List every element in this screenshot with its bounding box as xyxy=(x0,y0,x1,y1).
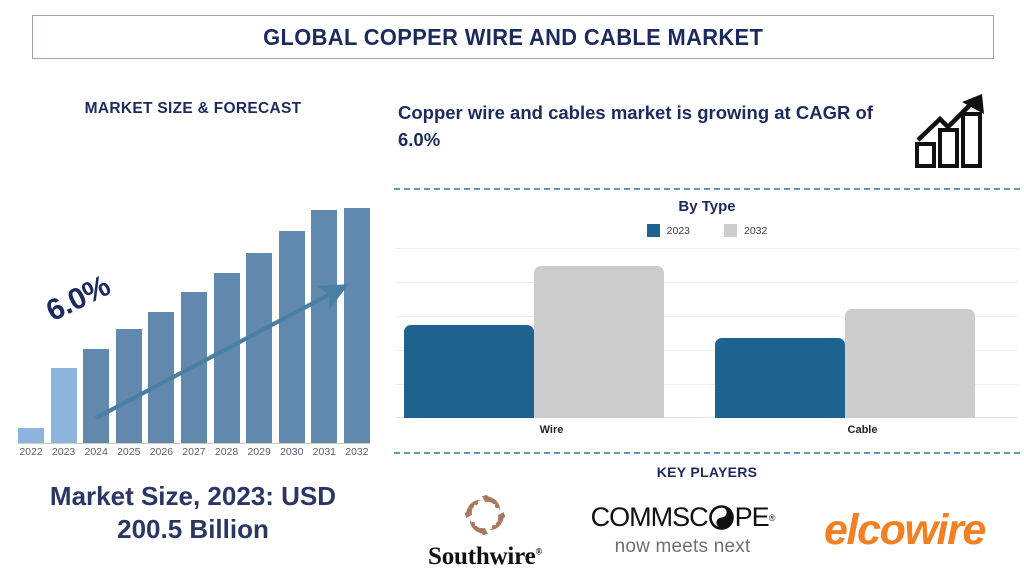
bar-column xyxy=(148,193,174,443)
bar-cable-2023 xyxy=(715,338,845,418)
page-title: GLOBAL COPPER WIRE AND CABLE MARKET xyxy=(263,24,763,51)
by-type-title: By Type xyxy=(390,198,1024,215)
page-title-box: GLOBAL COPPER WIRE AND CABLE MARKET xyxy=(32,15,994,59)
bar-2027 xyxy=(181,292,207,443)
logo-southwire: Southwire® xyxy=(390,490,580,571)
year-label-2030: 2030 xyxy=(279,446,305,458)
bar-column xyxy=(311,193,337,443)
by-type-chart xyxy=(396,248,1018,418)
commscope-text-2: PE xyxy=(735,502,769,533)
bar-column xyxy=(83,193,109,443)
bar-wire-2023 xyxy=(404,325,534,418)
year-label-2027: 2027 xyxy=(181,446,207,458)
bar-2026 xyxy=(148,312,174,443)
by-type-legend: 20232032 xyxy=(390,224,1024,237)
bar-2029 xyxy=(246,253,272,443)
legend-item-2023[interactable]: 2023 xyxy=(647,224,690,237)
southwire-wordmark: Southwire® xyxy=(428,543,542,571)
legend-swatch-icon xyxy=(724,224,737,237)
key-players-title: KEY PLAYERS xyxy=(390,464,1024,480)
by-type-bar-groups xyxy=(396,248,1018,418)
logo-commscope: COMMSC PE® now meets next xyxy=(580,502,785,558)
year-label-2023: 2023 xyxy=(51,446,77,458)
bar-column xyxy=(214,193,240,443)
bar-column xyxy=(344,193,370,443)
year-label-2029: 2029 xyxy=(246,446,272,458)
bar-2032 xyxy=(344,208,370,443)
bar-group-cable xyxy=(707,248,1018,418)
commscope-swirl-icon xyxy=(709,505,734,530)
market-size-chart: 6.0% xyxy=(18,175,370,465)
bar-2025 xyxy=(116,329,142,443)
bar-column xyxy=(181,193,207,443)
divider-bottom xyxy=(394,452,1020,454)
market-size-value: Market Size, 2023: USD 200.5 Billion xyxy=(8,480,378,545)
market-size-year-labels: 2022202320242025202620272028202920302031… xyxy=(18,446,370,458)
infographic-page: GLOBAL COPPER WIRE AND CABLE MARKET MARK… xyxy=(0,0,1024,576)
bar-2022 xyxy=(18,428,44,443)
legend-label: 2023 xyxy=(667,225,690,237)
year-label-2025: 2025 xyxy=(116,446,142,458)
year-label-2032: 2032 xyxy=(344,446,370,458)
year-label-2022: 2022 xyxy=(18,446,44,458)
bar-2024 xyxy=(83,349,109,443)
market-size-header: MARKET SIZE & FORECAST xyxy=(0,100,386,118)
commscope-text-1: COMMSC xyxy=(591,502,708,533)
cagr-headline: Copper wire and cables market is growing… xyxy=(398,100,878,154)
bar-cable-2032 xyxy=(845,309,975,418)
legend-label: 2032 xyxy=(744,225,767,237)
market-size-value-line1: Market Size, 2023: USD xyxy=(50,481,336,511)
year-label-2028: 2028 xyxy=(214,446,240,458)
growth-bar-chart-icon xyxy=(914,92,1002,170)
bar-column xyxy=(246,193,272,443)
bar-wire-2032 xyxy=(534,266,664,418)
southwire-emblem-icon xyxy=(456,490,514,542)
category-label-cable: Cable xyxy=(707,424,1018,436)
key-players-logos: Southwire® COMMSC PE® now meets next elc… xyxy=(390,484,1024,576)
market-size-panel: MARKET SIZE & FORECAST 6.0% 202220232024… xyxy=(0,80,386,576)
year-label-2026: 2026 xyxy=(148,446,174,458)
bar-column xyxy=(116,193,142,443)
bar-2028 xyxy=(214,273,240,443)
right-panel: Copper wire and cables market is growing… xyxy=(390,80,1024,576)
legend-swatch-icon xyxy=(647,224,660,237)
logo-elcowire: elcowire xyxy=(785,506,1024,555)
by-type-category-labels: WireCable xyxy=(396,424,1018,436)
year-label-2031: 2031 xyxy=(311,446,337,458)
category-label-wire: Wire xyxy=(396,424,707,436)
bar-column xyxy=(279,193,305,443)
market-size-value-line2: 200.5 Billion xyxy=(117,514,269,544)
bar-2023 xyxy=(51,368,77,443)
bar-2031 xyxy=(311,210,337,443)
commscope-wordmark: COMMSC PE® xyxy=(591,502,775,533)
divider-top xyxy=(394,188,1020,190)
legend-item-2032[interactable]: 2032 xyxy=(724,224,767,237)
bar-column xyxy=(18,193,44,443)
commscope-tagline: now meets next xyxy=(615,536,751,558)
bar-2030 xyxy=(279,231,305,443)
chart-baseline xyxy=(18,443,370,444)
southwire-text: Southwire xyxy=(428,543,535,570)
year-label-2024: 2024 xyxy=(83,446,109,458)
bar-group-wire xyxy=(396,248,707,418)
